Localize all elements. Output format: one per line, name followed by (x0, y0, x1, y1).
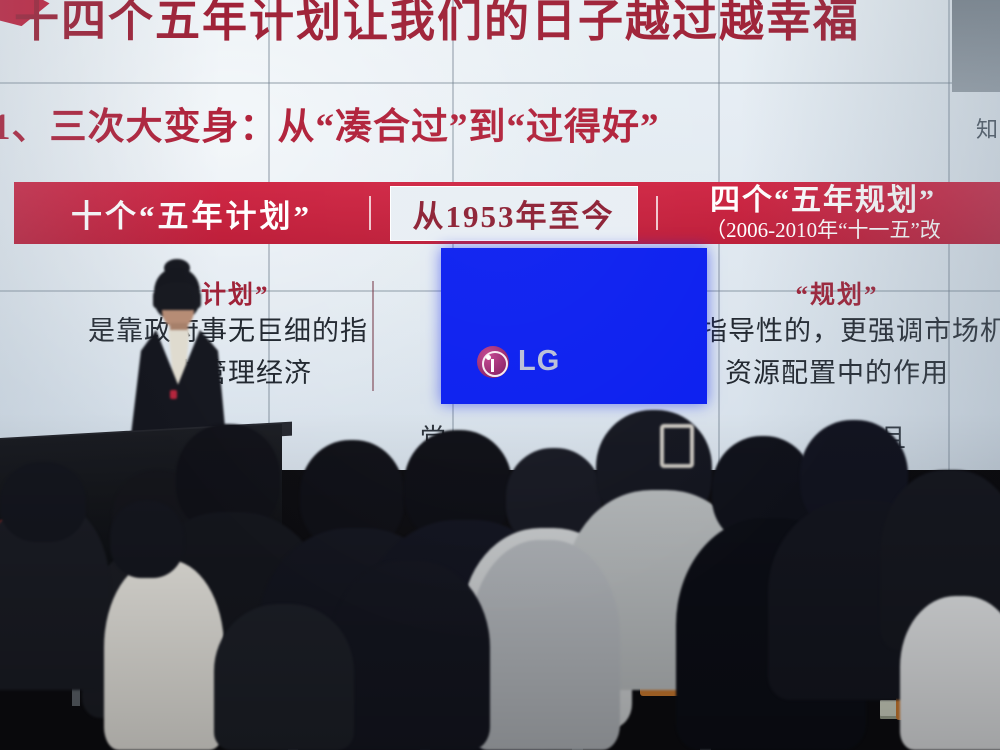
lg-no-signal-panel: LG (441, 248, 707, 404)
teacher-hair-front (153, 282, 201, 310)
column-separator-1 (372, 281, 374, 391)
slide-column-right: “规划” 是指导性的，更强调市场机 资源配置中的作用 (672, 275, 1000, 395)
column-right-line-1: 是指导性的，更强调市场机 (672, 311, 1000, 353)
student-head (0, 462, 86, 542)
slide-red-banner: 十个“五年计划” 从1953年至今 四个“五年规划” （2006-2010年“十… (14, 182, 1000, 244)
banner-right-sub: （2006-2010年“十一五”改 (705, 219, 941, 241)
student-body-white-jacket (900, 596, 1000, 750)
banner-cell-left: 十个“五年计划” (14, 182, 369, 244)
lg-logo-text: LG (518, 345, 560, 378)
student-body-striped (104, 560, 224, 750)
banner-year-box: 从1953年至今 (390, 186, 638, 241)
wall-seam-horizontal-1 (0, 82, 1000, 84)
slide-title: 十四个五年计划让我们的日子越过越幸福 (14, 0, 974, 49)
lg-logo: LG (477, 345, 560, 378)
classroom-photo: 十四个五年计划让我们的日子越过越幸福 1、三次大变身：从“凑合过”到“过得好” … (0, 0, 1000, 750)
student-body (214, 604, 354, 750)
hair-clip-icon (660, 424, 694, 468)
lg-face-icon (477, 346, 509, 378)
banner-cell-right: 四个“五年规划” （2006-2010年“十一五”改 (658, 182, 988, 244)
student-head (110, 500, 184, 578)
banner-right-main: 四个“五年规划” (710, 185, 936, 217)
student-body-grey (470, 540, 620, 750)
slide-corner-note: 知 (976, 112, 998, 144)
student-body (330, 560, 490, 750)
slide-subtitle: 1、三次大变身：从“凑合过”到“过得好” (0, 96, 872, 150)
teacher-lapel-pin (170, 390, 177, 399)
banner-cell-middle: 从1953年至今 (371, 182, 656, 244)
column-right-line-2: 资源配置中的作用 (672, 353, 1000, 395)
column-right-heading: “规划” (672, 275, 1000, 311)
